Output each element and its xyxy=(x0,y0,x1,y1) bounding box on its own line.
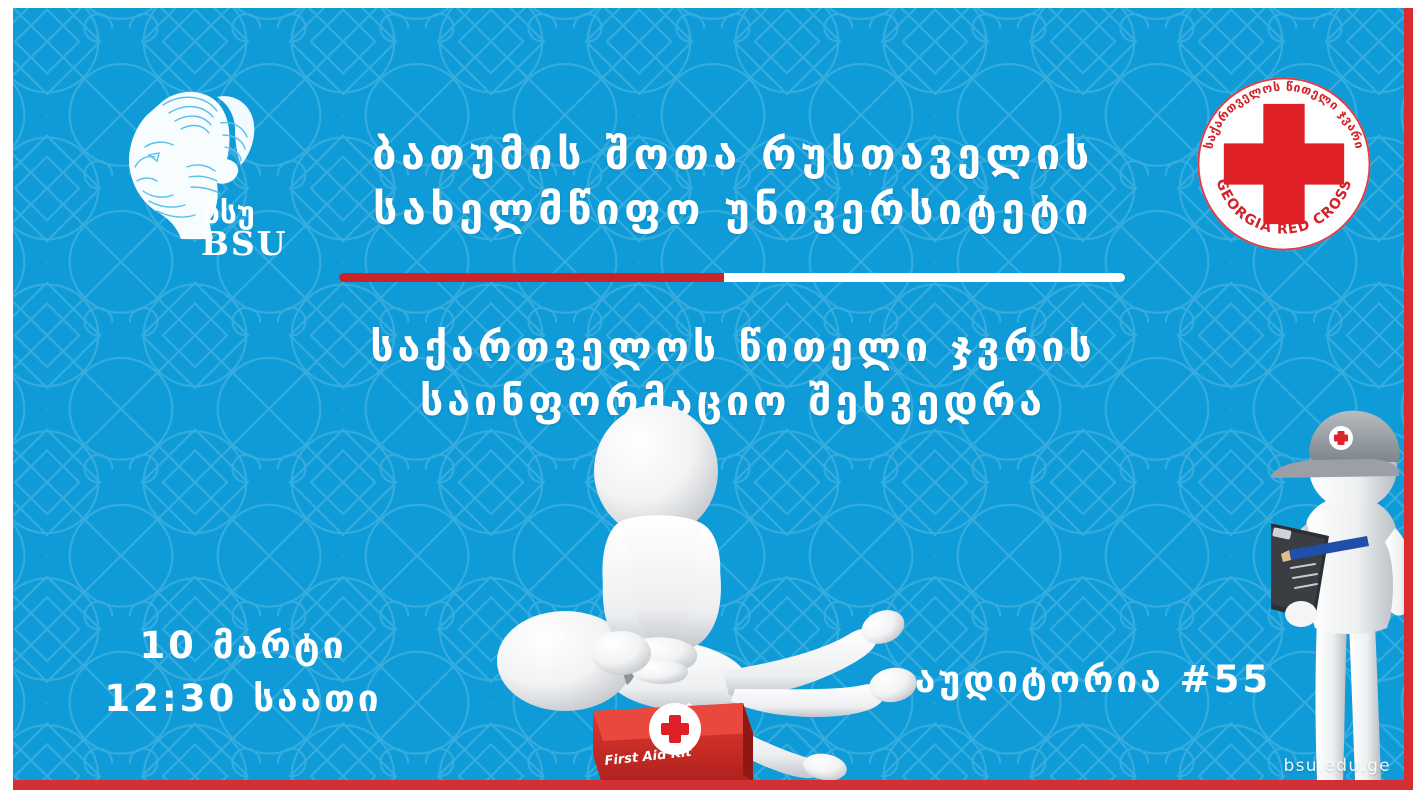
cpr-illustration: First Aid Kit xyxy=(453,403,933,790)
right-red-stripe xyxy=(1404,8,1413,790)
watermark-url: bsu.edu.ge xyxy=(1283,756,1391,776)
poster-root: ბსუ BSU საქართველოს წითელი ჯვარი xyxy=(0,0,1422,800)
page-title: ბათუმის შოთა რუსთაველის სახელმწიფო უნივე… xyxy=(313,128,1153,238)
event-time: 12:30 საათი xyxy=(73,673,413,726)
bsu-latin-label: BSU xyxy=(201,224,285,263)
subtitle-line-1: საქართველოს წითელი ჯვრის xyxy=(313,320,1153,374)
bottom-red-stripe xyxy=(13,780,1413,790)
first-aid-kit: First Aid Kit xyxy=(593,703,753,787)
title-line-1: ბათუმის შოთა რუსთაველის xyxy=(313,128,1153,183)
divider xyxy=(339,273,1125,282)
title-line-2: სახელმწიფო უნივერსიტეტი xyxy=(313,183,1153,238)
event-datetime: 10 მარტი 12:30 საათი xyxy=(73,620,413,725)
georgia-red-cross-emblem: საქართველოს წითელი ჯვარი GEORGIA RED CRO… xyxy=(1190,70,1378,258)
event-room: აუდიტორია #55 xyxy=(893,658,1293,701)
divider-white-segment xyxy=(724,273,1125,282)
event-date: 10 მარტი xyxy=(73,620,413,673)
poster-canvas: ბსუ BSU საქართველოს წითელი ჯვარი xyxy=(13,8,1413,790)
bsu-logo: ბსუ BSU xyxy=(85,63,285,268)
medic-figure xyxy=(1271,390,1413,790)
divider-red-segment xyxy=(339,273,724,282)
